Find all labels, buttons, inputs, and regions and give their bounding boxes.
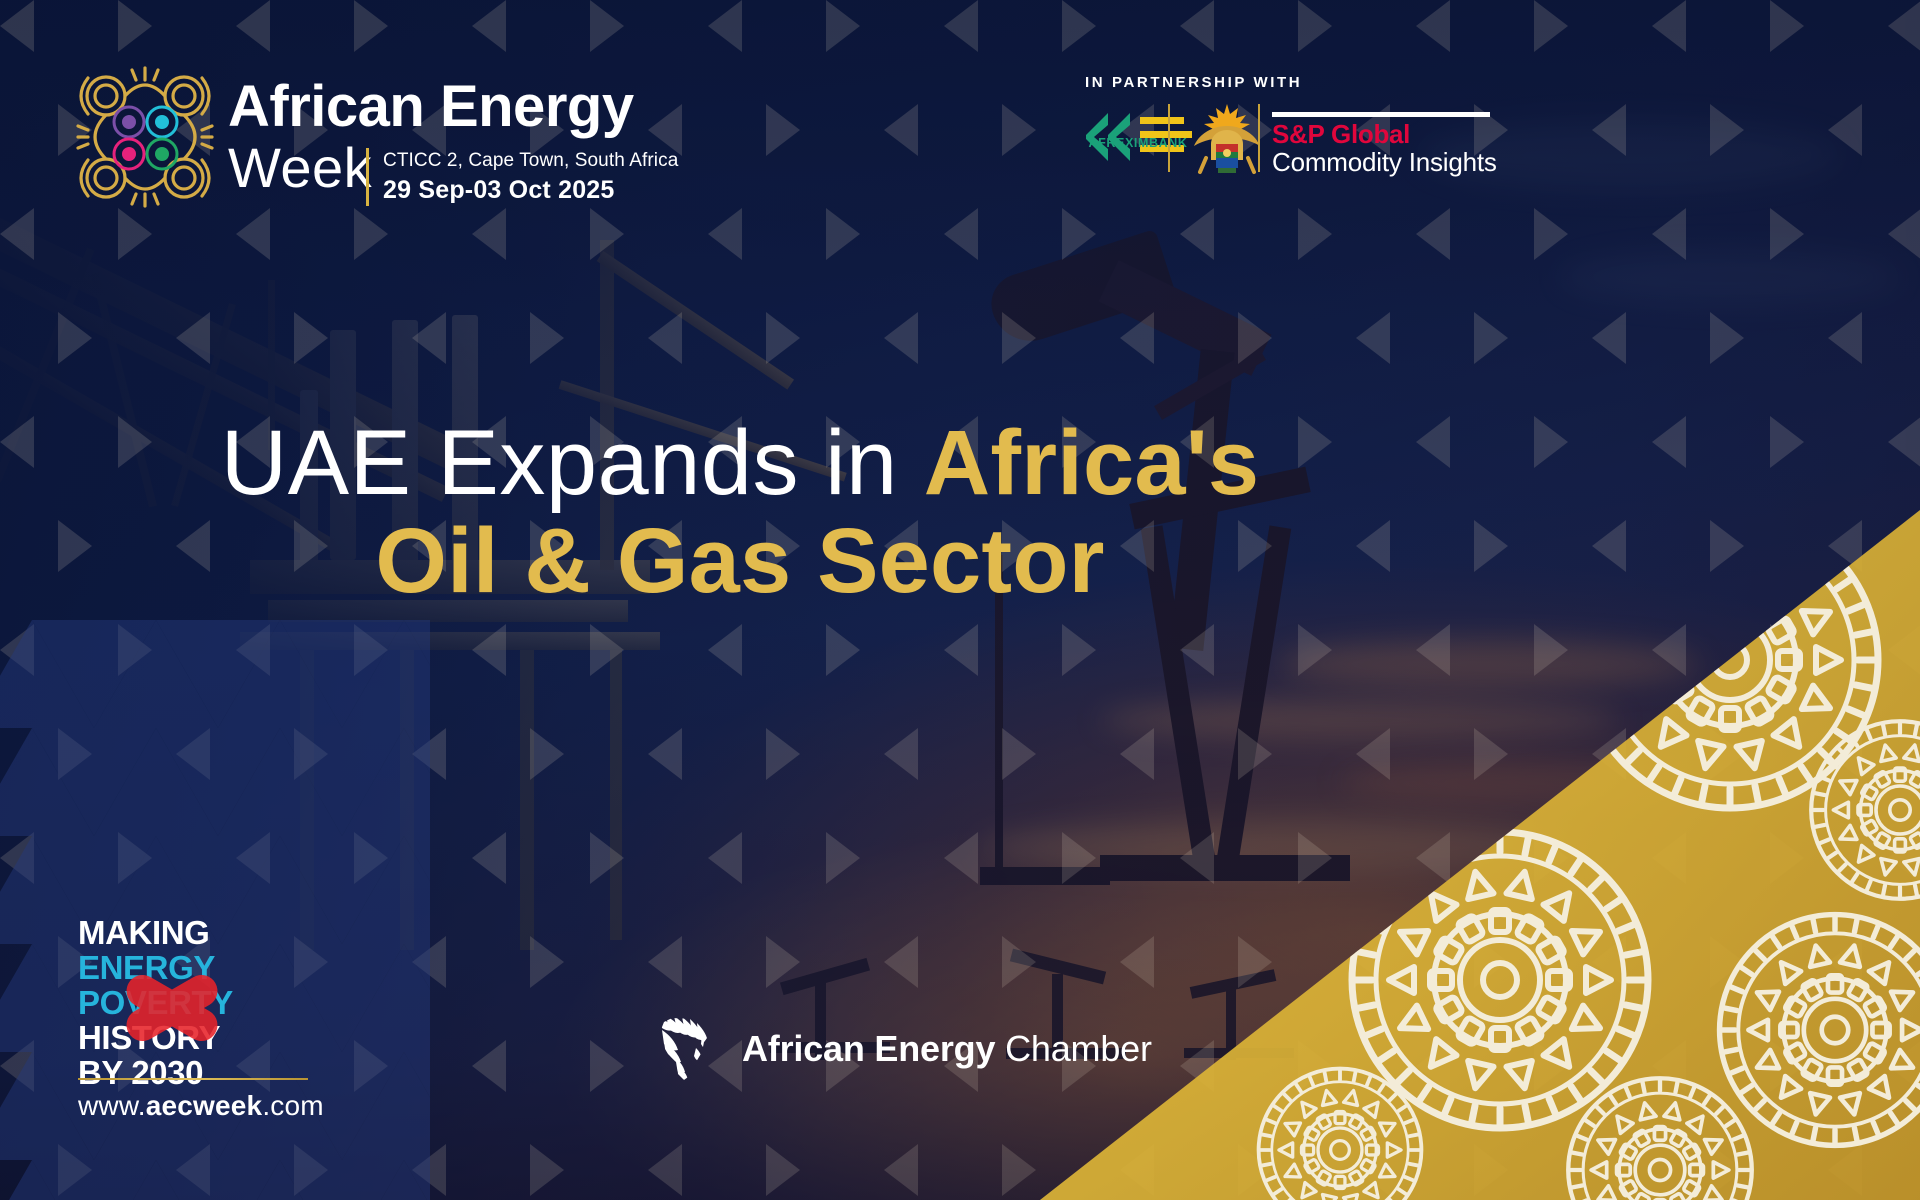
triangle-motif — [766, 312, 800, 364]
geometric-triangle — [404, 620, 430, 728]
event-dates: 29 Sep-03 Oct 2025 — [383, 176, 615, 205]
headline-line1-gold: Africa's — [924, 412, 1259, 514]
geometric-triangle — [404, 1160, 430, 1200]
triangle-motif — [1770, 208, 1804, 260]
triangle-motif — [530, 312, 564, 364]
headline-line1-white: UAE Expands in — [221, 412, 924, 514]
triangle-motif — [1592, 520, 1626, 572]
triangle-motif — [766, 728, 800, 780]
triangle-motif — [530, 936, 564, 988]
headline: UAE Expands in Africa's Oil & Gas Sector — [0, 415, 1480, 610]
triangle-motif — [1356, 728, 1390, 780]
triangle-motif — [412, 312, 446, 364]
triangle-motif — [826, 208, 860, 260]
triangle-motif — [1474, 728, 1508, 780]
triangle-motif — [884, 312, 918, 364]
triangle-motif — [530, 728, 564, 780]
triangle-motif — [1298, 624, 1332, 676]
triangle-motif — [648, 936, 682, 988]
triangle-motif — [1888, 208, 1920, 260]
triangle-motif — [1534, 416, 1568, 468]
triangle-motif — [1534, 208, 1568, 260]
partner-separator — [1168, 104, 1170, 172]
triangle-motif — [1062, 832, 1096, 884]
triangle-motif — [354, 0, 388, 52]
triangle-motif — [884, 728, 918, 780]
triangle-motif — [826, 0, 860, 52]
triangle-motif — [1180, 208, 1214, 260]
triangle-motif — [1710, 520, 1744, 572]
chamber-name-light: Chamber — [1005, 1028, 1152, 1069]
sp-global-name: S&P Global — [1272, 119, 1410, 150]
triangle-motif — [826, 832, 860, 884]
triangle-motif — [1652, 0, 1686, 52]
triangle-motif — [1180, 624, 1214, 676]
mandala-gear-icon — [1811, 721, 1920, 899]
triangle-motif — [1298, 0, 1332, 52]
triangle-motif — [648, 1144, 682, 1196]
triangle-motif — [766, 1144, 800, 1196]
triangle-motif — [1770, 0, 1804, 52]
campaign-line-making: MAKING — [78, 916, 318, 951]
triangle-motif — [1180, 832, 1214, 884]
triangle-motif — [590, 1040, 624, 1092]
triangle-motif — [472, 832, 506, 884]
triangle-motif — [472, 1040, 506, 1092]
partner-separator — [1258, 104, 1260, 172]
campaign-line-poverty: POVERTY — [78, 986, 318, 1021]
partnership-label: IN PARTNERSHIP WITH — [1085, 74, 1302, 91]
triangle-motif — [648, 104, 682, 156]
triangle-motif — [1652, 416, 1686, 468]
triangle-motif — [1238, 728, 1272, 780]
triangle-motif — [1416, 832, 1450, 884]
triangle-motif — [1592, 312, 1626, 364]
triangle-motif — [1888, 416, 1920, 468]
triangle-motif — [1062, 0, 1096, 52]
triangle-motif — [1356, 312, 1390, 364]
url-divider — [78, 1078, 308, 1080]
triangle-motif — [472, 208, 506, 260]
geometric-triangle — [404, 728, 430, 836]
triangle-motif — [1180, 0, 1214, 52]
triangle-motif — [884, 1144, 918, 1196]
campaign-badge: MAKING ENERGY POVERTY HISTORY BY 2030 — [78, 916, 318, 1091]
triangle-motif — [1770, 416, 1804, 468]
triangle-motif — [1710, 104, 1744, 156]
chamber-name-bold: African Energy — [742, 1028, 995, 1069]
triangle-motif — [472, 624, 506, 676]
website-url[interactable]: www.aecweek.com — [78, 1090, 324, 1122]
triangle-motif — [1120, 728, 1154, 780]
triangle-motif — [884, 104, 918, 156]
triangle-motif — [944, 832, 978, 884]
triangle-motif — [648, 728, 682, 780]
triangle-motif — [590, 208, 624, 260]
triangle-motif — [826, 624, 860, 676]
campaign-line-by2030: BY 2030 — [78, 1056, 318, 1091]
triangle-motif — [0, 208, 34, 260]
triangle-motif — [1534, 624, 1568, 676]
triangle-motif — [1416, 624, 1450, 676]
triangle-motif — [354, 208, 388, 260]
triangle-motif — [1238, 936, 1272, 988]
geometric-triangle — [404, 1052, 430, 1160]
triangle-motif — [1416, 0, 1450, 52]
triangle-motif — [944, 624, 978, 676]
triangle-motif — [118, 208, 152, 260]
url-prefix: www. — [78, 1090, 146, 1121]
headline-line2: Oil & Gas Sector — [0, 513, 1480, 611]
triangle-motif — [590, 832, 624, 884]
triangle-motif — [1888, 0, 1920, 52]
south-africa-coat-of-arms-icon — [1188, 100, 1266, 178]
campaign-line-energy: ENERGY — [78, 951, 318, 986]
afreximbank-name: AFREXIMBANK — [1078, 136, 1198, 150]
triangle-motif — [1592, 104, 1626, 156]
event-venue: CTICC 2, Cape Town, South Africa — [383, 150, 678, 172]
triangle-motif — [1710, 312, 1744, 364]
triangle-motif — [1416, 208, 1450, 260]
triangle-motif — [1534, 0, 1568, 52]
chamber-name: African Energy Chamber — [742, 1028, 1152, 1070]
triangle-motif — [1120, 312, 1154, 364]
triangle-motif — [1002, 312, 1036, 364]
triangle-motif — [1474, 312, 1508, 364]
triangle-motif — [0, 0, 34, 52]
triangle-motif — [766, 936, 800, 988]
triangle-motif — [1298, 208, 1332, 260]
triangle-motif — [1828, 312, 1862, 364]
triangle-motif — [1238, 312, 1272, 364]
triangle-motif — [1120, 936, 1154, 988]
triangle-motif — [708, 208, 742, 260]
triangle-motif — [1002, 936, 1036, 988]
commodity-insights-name: Commodity Insights — [1272, 147, 1497, 178]
triangle-motif — [884, 936, 918, 988]
triangle-motif — [1062, 208, 1096, 260]
brand-title-line2: Week — [228, 140, 372, 196]
triangle-motif — [118, 0, 152, 52]
triangle-motif — [236, 0, 270, 52]
sp-global-bar — [1272, 112, 1490, 117]
triangle-motif — [708, 832, 742, 884]
triangle-motif — [1002, 728, 1036, 780]
triangle-motif — [1652, 624, 1686, 676]
geometric-triangle — [404, 836, 430, 944]
triangle-motif — [648, 312, 682, 364]
brand-title-line1: African Energy — [228, 78, 634, 136]
zebra-africa-map-icon — [650, 1016, 724, 1082]
triangle-motif — [944, 208, 978, 260]
aew-adinkra-logo-icon — [72, 62, 218, 212]
triangle-motif — [1002, 104, 1036, 156]
triangle-motif — [1652, 208, 1686, 260]
triangle-motif — [708, 624, 742, 676]
triangle-motif — [1828, 104, 1862, 156]
promotional-banner: African Energy Week CTICC 2, Cape Town, … — [0, 0, 1920, 1200]
geometric-triangle — [404, 944, 430, 1052]
triangle-motif — [590, 624, 624, 676]
campaign-line-history: HISTORY — [78, 1021, 318, 1056]
triangle-motif — [58, 312, 92, 364]
mandala-gear-icon — [1720, 915, 1920, 1146]
triangle-motif — [590, 0, 624, 52]
triangle-motif — [1002, 1144, 1036, 1196]
url-suffix: .com — [262, 1090, 323, 1121]
triangle-motif — [236, 208, 270, 260]
triangle-motif — [176, 312, 210, 364]
triangle-motif — [294, 312, 328, 364]
triangle-motif — [472, 0, 506, 52]
header-divider — [366, 148, 369, 206]
triangle-motif — [766, 104, 800, 156]
triangle-motif — [708, 0, 742, 52]
triangle-motif — [530, 1144, 564, 1196]
triangle-motif — [1062, 624, 1096, 676]
triangle-motif — [944, 0, 978, 52]
url-brand: aecweek — [146, 1090, 263, 1121]
triangle-motif — [1298, 832, 1332, 884]
african-energy-chamber-logo: African Energy Chamber — [650, 1016, 1152, 1082]
